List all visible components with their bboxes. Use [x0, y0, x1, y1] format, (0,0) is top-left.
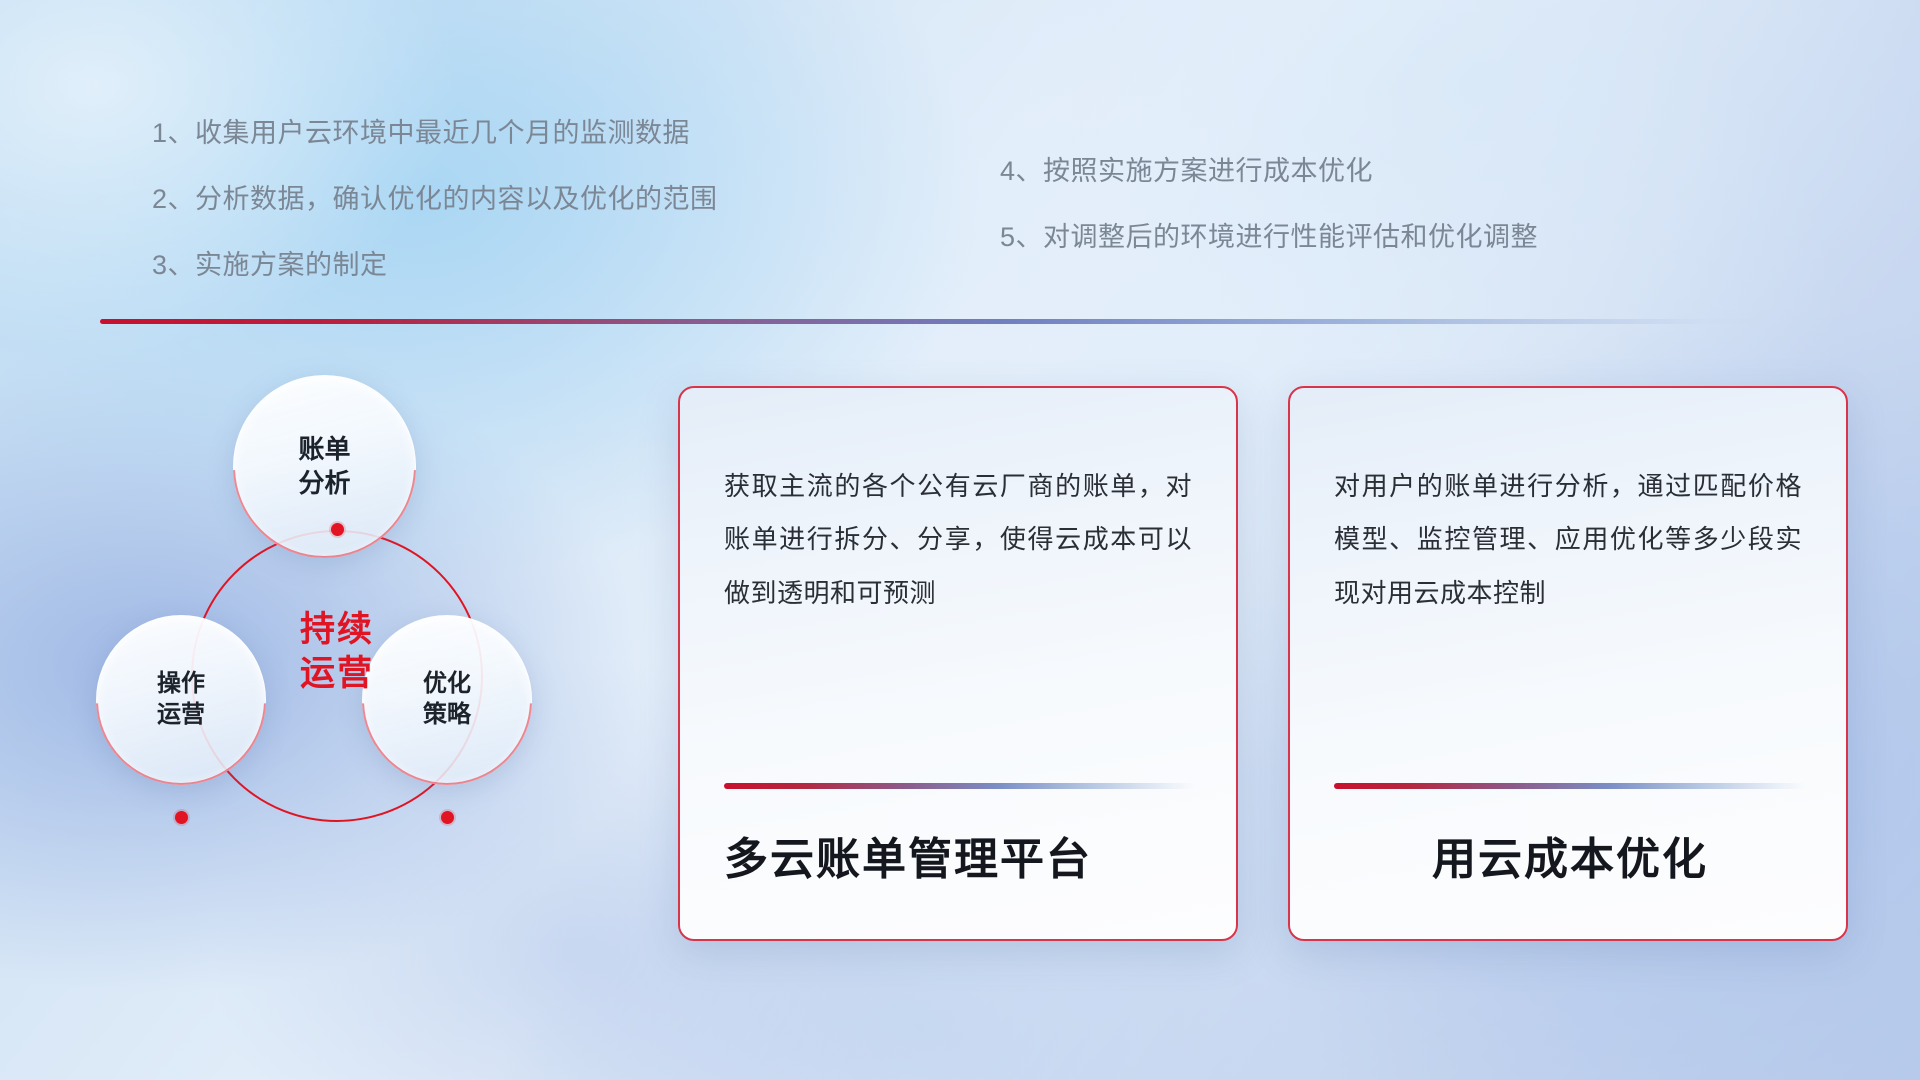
- feature-card-cost-optimization[interactable]: 对用户的账单进行分析，通过匹配价格模型、监控管理、应用优化等多少段实现对用云成本…: [1288, 386, 1848, 941]
- feature-card-cost-optimization-title: 用云成本优化: [1334, 823, 1806, 887]
- feature-card-billing-platform[interactable]: 获取主流的各个公有云厂商的账单，对账单进行拆分、分享，使得云成本可以做到透明和可…: [678, 386, 1238, 941]
- feature-card-billing-platform-title: 多云账单管理平台: [724, 823, 1196, 887]
- venn-center-label-line2: 运营: [191, 652, 483, 696]
- section-divider: [100, 319, 1840, 324]
- venn-node-dot-right: [441, 811, 454, 824]
- feature-card-billing-platform-body: 获取主流的各个公有云厂商的账单，对账单进行拆分、分享，使得云成本可以做到透明和可…: [724, 460, 1192, 620]
- slide-canvas: 1、收集用户云环境中最近几个月的监测数据 2、分析数据，确认优化的内容以及优化的…: [0, 0, 1920, 1080]
- venn-center-label-line1: 持续: [191, 608, 483, 652]
- venn-node-dot-top: [331, 523, 344, 536]
- bullet-list-left: 1、收集用户云环境中最近几个月的监测数据 2、分析数据，确认优化的内容以及优化的…: [152, 120, 718, 318]
- venn-center-label: 持续 运营: [191, 608, 483, 696]
- feature-card-billing-platform-rule: [724, 783, 1196, 789]
- bullet-list-right: 4、按照实施方案进行成本优化 5、对调整后的环境进行性能评估和优化调整: [1000, 158, 1538, 290]
- feature-card-cost-optimization-body: 对用户的账单进行分析，通过匹配价格模型、监控管理、应用优化等多少段实现对用云成本…: [1334, 460, 1802, 620]
- bullet-item-4: 4、按照实施方案进行成本优化: [1000, 158, 1538, 185]
- venn-diagram: 账单 分析 操作 运营 优化 策略 持续 运营: [90, 340, 610, 940]
- venn-node-dot-left: [175, 811, 188, 824]
- bullet-item-3: 3、实施方案的制定: [152, 252, 718, 279]
- venn-bubble-billing-analysis-line1: 账单: [298, 433, 350, 466]
- bullet-item-5: 5、对调整后的环境进行性能评估和优化调整: [1000, 224, 1538, 251]
- bullet-item-1: 1、收集用户云环境中最近几个月的监测数据: [152, 120, 718, 147]
- bullet-item-2: 2、分析数据，确认优化的内容以及优化的范围: [152, 186, 718, 213]
- feature-card-cost-optimization-rule: [1334, 783, 1806, 789]
